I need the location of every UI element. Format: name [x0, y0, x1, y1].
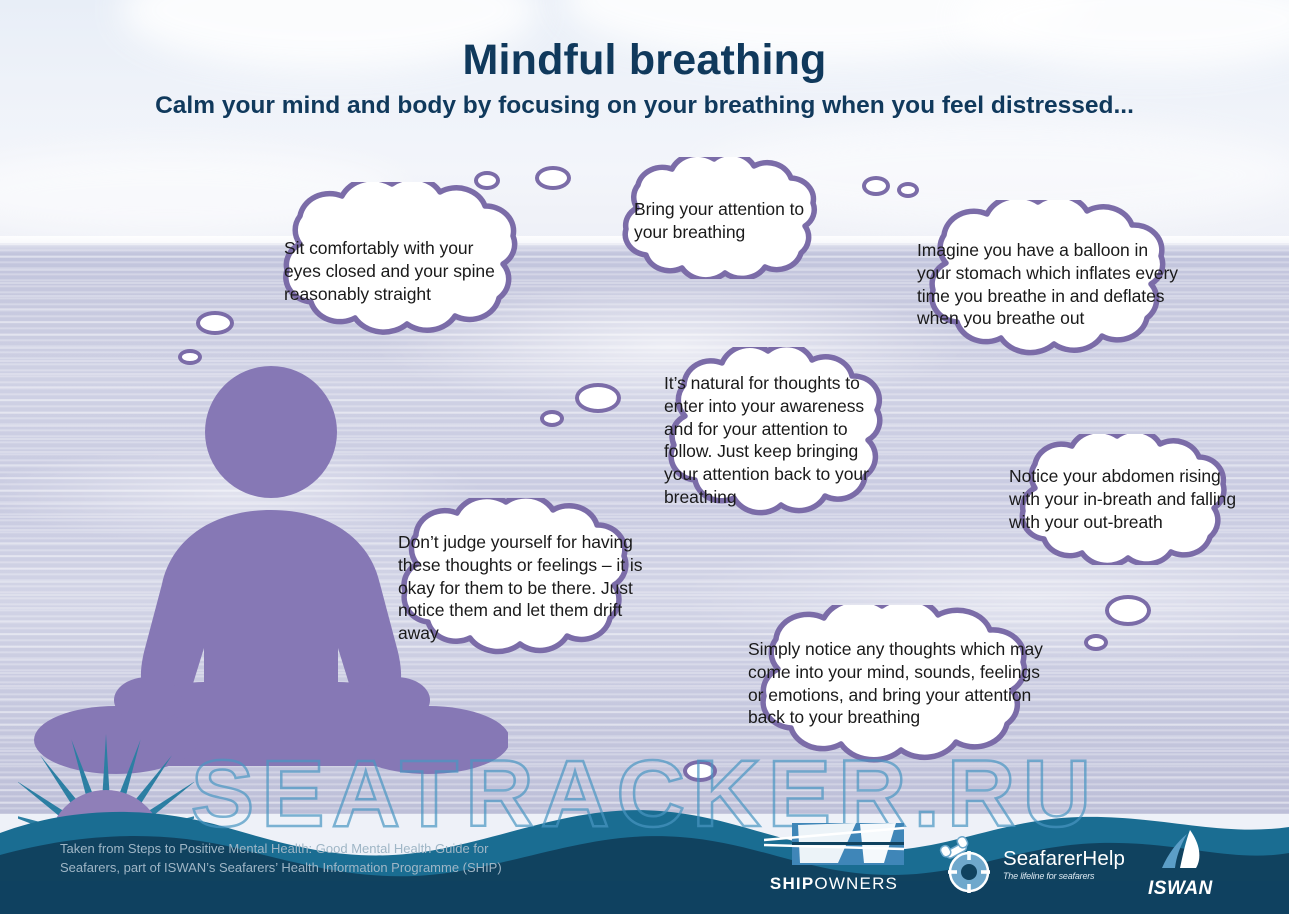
seafarerhelp-wordmark: SeafarerHelp — [1003, 849, 1125, 870]
thought-bubble-text: Imagine you have a balloon in your stoma… — [917, 239, 1179, 330]
page-subtitle: Calm your mind and body by focusing on y… — [0, 92, 1289, 120]
thought-trail-bubble — [178, 349, 202, 365]
thought-bubble-bring-attention: Bring your attention to your breathing — [592, 157, 845, 279]
seafarerhelp-tagline: The lifeline for seafarers — [1003, 872, 1125, 881]
thought-bubble-text: Simply notice any thoughts which may com… — [748, 638, 1048, 729]
shipowners-word-bold: SHIP — [770, 874, 814, 893]
shipowners-mark-icon — [764, 823, 904, 865]
thought-trail-bubble — [540, 410, 564, 427]
shipowners-wordmark: SHIPOWNERS — [764, 874, 904, 894]
thought-bubble-text: Notice your abdomen rising with your in-… — [1009, 465, 1249, 533]
thought-bubble-text: Bring your attention to your breathing — [634, 198, 812, 244]
thought-trail-bubble — [575, 383, 621, 413]
thought-trail-bubble — [862, 176, 890, 196]
thought-trail-bubble — [196, 311, 234, 335]
iswan-logo[interactable]: ISWAN — [1148, 828, 1213, 900]
thought-trail-bubble — [1105, 595, 1151, 626]
iswan-sail-icon — [1150, 828, 1210, 872]
thought-bubble-text: Don’t judge yourself for having these th… — [398, 531, 643, 645]
thought-trail-bubble — [1084, 634, 1108, 651]
page-title: Mindful breathing — [0, 36, 1289, 85]
thought-bubble-simply-notice: Simply notice any thoughts which may com… — [710, 605, 1080, 766]
thought-bubble-sit-comfortably: Sit comfortably with your eyes closed an… — [240, 182, 556, 340]
seafarerhelp-logo[interactable]: SeafarerHelp The lifeline for seafarers — [938, 836, 1125, 894]
thought-bubble-dont-judge: Don’t judge yourself for having these th… — [358, 498, 664, 668]
thought-bubble-balloon-stomach: Imagine you have a balloon in your stoma… — [884, 200, 1202, 361]
shipowners-word-rest: OWNERS — [814, 874, 898, 893]
thought-bubble-text: It’s natural for thoughts to enter into … — [664, 372, 886, 509]
footer-credit-text: Taken from Steps to Positive Mental Heal… — [60, 840, 530, 878]
infographic-poster: Mindful breathing Calm your mind and bod… — [0, 0, 1289, 914]
thought-bubble-natural-thoughts: It’s natural for thoughts to enter into … — [632, 347, 909, 534]
thought-bubble-abdomen-rising: Notice your abdomen rising with your in-… — [985, 434, 1257, 565]
thought-bubble-text: Sit comfortably with your eyes closed an… — [284, 237, 509, 305]
iswan-wordmark: ISWAN — [1148, 878, 1213, 900]
lifebuoy-phone-icon — [938, 836, 996, 894]
shipowners-logo[interactable]: SHIPOWNERS — [764, 823, 904, 894]
thought-trail-bubble — [897, 182, 919, 198]
